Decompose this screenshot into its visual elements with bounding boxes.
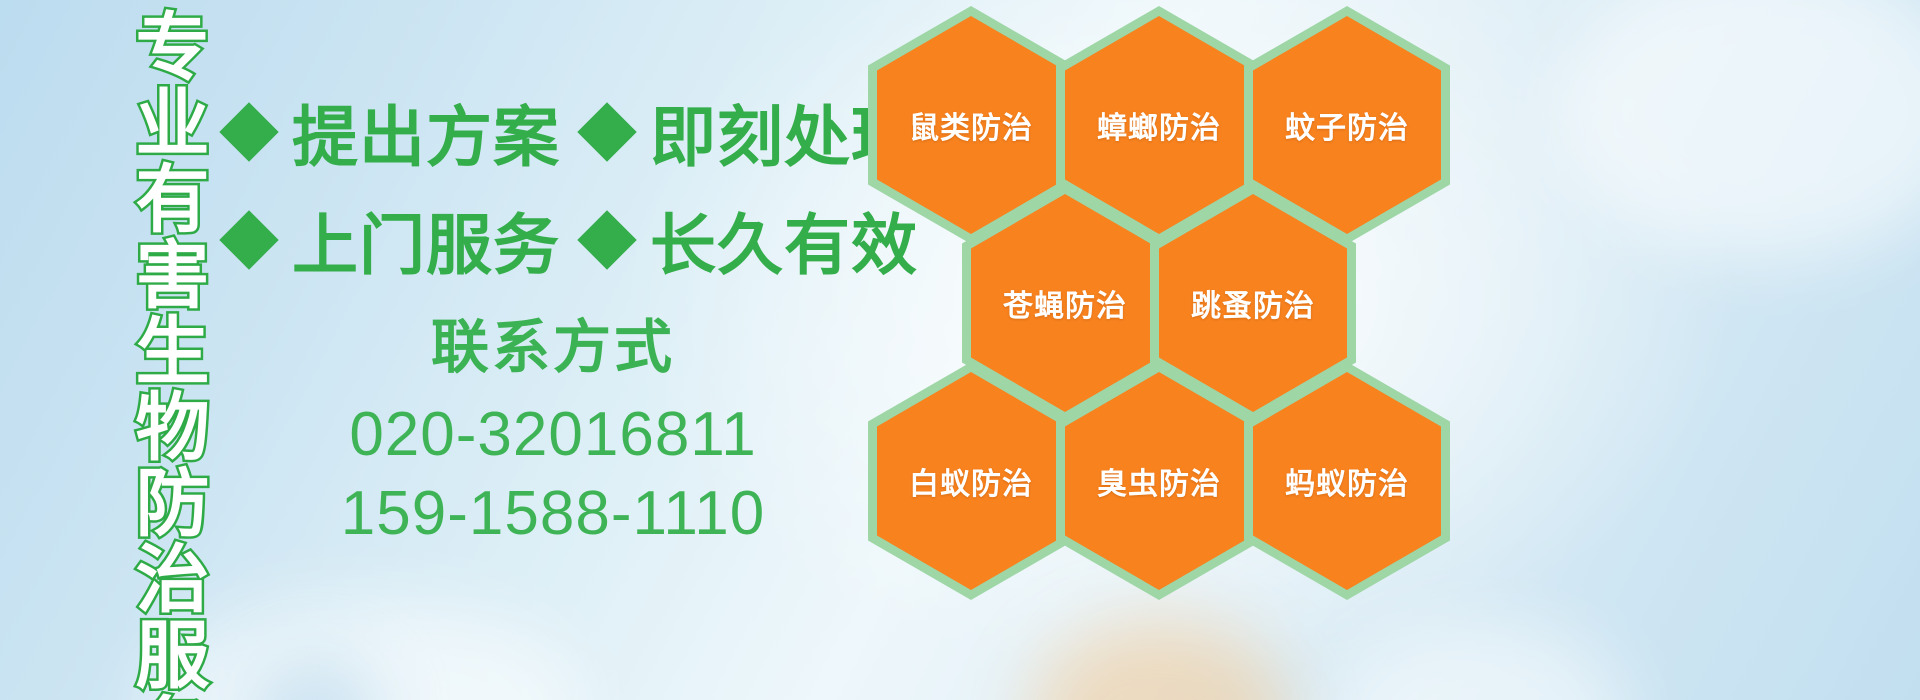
vertical-title: 专业有害生物防治服务 <box>112 8 204 700</box>
feature-label: 上门服务 <box>292 192 560 288</box>
background-haze-blob <box>1330 620 1630 700</box>
background-haze-blob <box>1030 620 1290 700</box>
feature-row: 提出方案 即刻处理 <box>228 78 878 186</box>
hex-label: 跳蚤防治 <box>1191 281 1315 325</box>
hex-label: 苍蝇防治 <box>1003 281 1127 325</box>
background-haze-blob <box>150 600 580 700</box>
honeycomb-grid: 鼠类防治 蟑螂防治 蚊子防治 苍蝇防治 跳蚤防治 白蚁防治 臭虫防治 蚂蚁防治 <box>862 0 1462 570</box>
hex-label: 蚂蚁防治 <box>1285 459 1409 503</box>
background-haze-blob <box>255 660 375 700</box>
hex-label: 蚊子防治 <box>1285 103 1409 147</box>
diamond-bullet-icon <box>219 102 278 161</box>
phone-landline[interactable]: 020-32016811 <box>228 395 878 474</box>
hex-label: 白蚁防治 <box>909 459 1033 503</box>
feature-row: 上门服务 长久有效 <box>228 186 878 294</box>
hex-label: 鼠类防治 <box>909 103 1033 147</box>
pest-control-banner: 专业有害生物防治服务 提出方案 即刻处理 上门服务 长久有效 联系方式 020-… <box>0 0 1920 700</box>
background-haze-blob <box>1560 0 1920 260</box>
hex-label: 臭虫防治 <box>1097 459 1221 503</box>
hex-label: 蟑螂防治 <box>1097 103 1221 147</box>
phone-mobile[interactable]: 159-1588-1110 <box>228 474 878 553</box>
feature-label: 提出方案 <box>292 84 560 180</box>
contact-block: 联系方式 020-32016811 159-1588-1110 <box>228 312 878 553</box>
contact-title: 联系方式 <box>228 312 878 385</box>
diamond-bullet-icon <box>219 210 278 269</box>
feature-list: 提出方案 即刻处理 上门服务 长久有效 <box>228 78 878 294</box>
diamond-bullet-icon <box>577 210 636 269</box>
diamond-bullet-icon <box>577 102 636 161</box>
